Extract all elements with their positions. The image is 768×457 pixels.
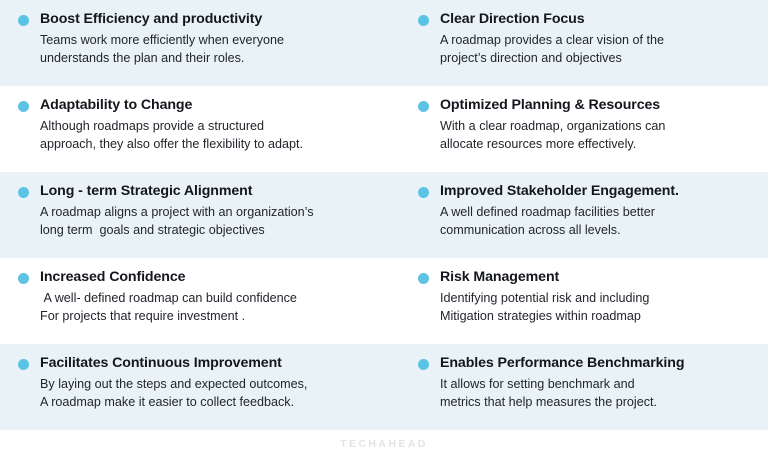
- benefit-row-5: Facilitates Continuous Improvement By la…: [0, 344, 768, 430]
- benefit-text: Boost Efficiency and productivity Teams …: [40, 10, 376, 67]
- benefit-card-optimized-planning-resources: Optimized Planning & Resources With a cl…: [384, 96, 768, 172]
- benefit-title: Risk Management: [440, 268, 760, 286]
- benefit-title: Enables Performance Benchmarking: [440, 354, 760, 372]
- benefit-text: Facilitates Continuous Improvement By la…: [40, 354, 376, 411]
- benefit-title: Increased Confidence: [40, 268, 376, 286]
- benefit-card-enables-performance-benchmarking: Enables Performance Benchmarking It allo…: [384, 354, 768, 430]
- benefit-title: Long - term Strategic Alignment: [40, 182, 376, 200]
- benefit-card-clear-direction-focus: Clear Direction Focus A roadmap provides…: [384, 10, 768, 86]
- benefit-text: Clear Direction Focus A roadmap provides…: [440, 10, 760, 67]
- benefit-text: Improved Stakeholder Engagement. A well …: [440, 182, 760, 239]
- benefit-card-increased-confidence: Increased Confidence A well- defined roa…: [0, 268, 384, 344]
- benefit-description: A roadmap aligns a project with an organ…: [40, 203, 376, 239]
- benefit-text: Enables Performance Benchmarking It allo…: [440, 354, 760, 411]
- benefit-text: Increased Confidence A well- defined roa…: [40, 268, 376, 325]
- benefit-row-3: Long - term Strategic Alignment A roadma…: [0, 172, 768, 258]
- benefit-description: A well- defined roadmap can build confid…: [40, 289, 376, 325]
- benefit-title: Adaptability to Change: [40, 96, 376, 114]
- bullet-dot-icon: [18, 96, 40, 112]
- benefit-title: Optimized Planning & Resources: [440, 96, 760, 114]
- benefit-row-2: Adaptability to Change Although roadmaps…: [0, 86, 768, 172]
- bullet-dot-icon: [418, 10, 440, 26]
- benefit-description: Teams work more efficiently when everyon…: [40, 31, 376, 67]
- bullet-dot-icon: [18, 268, 40, 284]
- benefit-text: Adaptability to Change Although roadmaps…: [40, 96, 376, 153]
- benefit-title: Facilitates Continuous Improvement: [40, 354, 376, 372]
- benefit-title: Improved Stakeholder Engagement.: [440, 182, 760, 200]
- benefit-description: With a clear roadmap, organizations can …: [440, 117, 760, 153]
- benefit-card-facilitates-continuous-improvement: Facilitates Continuous Improvement By la…: [0, 354, 384, 430]
- benefit-description: A roadmap provides a clear vision of the…: [440, 31, 760, 67]
- benefit-text: Risk Management Identifying potential ri…: [440, 268, 760, 325]
- benefit-row-1: Boost Efficiency and productivity Teams …: [0, 0, 768, 86]
- benefit-card-improved-stakeholder-engagement: Improved Stakeholder Engagement. A well …: [384, 182, 768, 258]
- benefit-row-4: Increased Confidence A well- defined roa…: [0, 258, 768, 344]
- bullet-dot-icon: [18, 10, 40, 26]
- benefit-description: By laying out the steps and expected out…: [40, 375, 376, 411]
- benefit-description: Identifying potential risk and including…: [440, 289, 760, 325]
- benefit-text: Optimized Planning & Resources With a cl…: [440, 96, 760, 153]
- benefit-card-risk-management: Risk Management Identifying potential ri…: [384, 268, 768, 344]
- benefit-card-boost-efficiency: Boost Efficiency and productivity Teams …: [0, 10, 384, 86]
- footer: TECHAHEAD: [0, 430, 768, 457]
- bullet-dot-icon: [18, 182, 40, 198]
- bullet-dot-icon: [418, 182, 440, 198]
- techahead-watermark: TECHAHEAD: [340, 438, 428, 450]
- benefit-card-long-term-strategic-alignment: Long - term Strategic Alignment A roadma…: [0, 182, 384, 258]
- benefit-description: A well defined roadmap facilities better…: [440, 203, 760, 239]
- benefit-title: Clear Direction Focus: [440, 10, 760, 28]
- benefits-infographic: Boost Efficiency and productivity Teams …: [0, 0, 768, 457]
- bullet-dot-icon: [18, 354, 40, 370]
- benefit-title: Boost Efficiency and productivity: [40, 10, 376, 28]
- bullet-dot-icon: [418, 354, 440, 370]
- benefit-description: Although roadmaps provide a structured a…: [40, 117, 376, 153]
- benefit-text: Long - term Strategic Alignment A roadma…: [40, 182, 376, 239]
- bullet-dot-icon: [418, 268, 440, 284]
- bullet-dot-icon: [418, 96, 440, 112]
- benefit-description: It allows for setting benchmark and metr…: [440, 375, 760, 411]
- benefit-card-adaptability-to-change: Adaptability to Change Although roadmaps…: [0, 96, 384, 172]
